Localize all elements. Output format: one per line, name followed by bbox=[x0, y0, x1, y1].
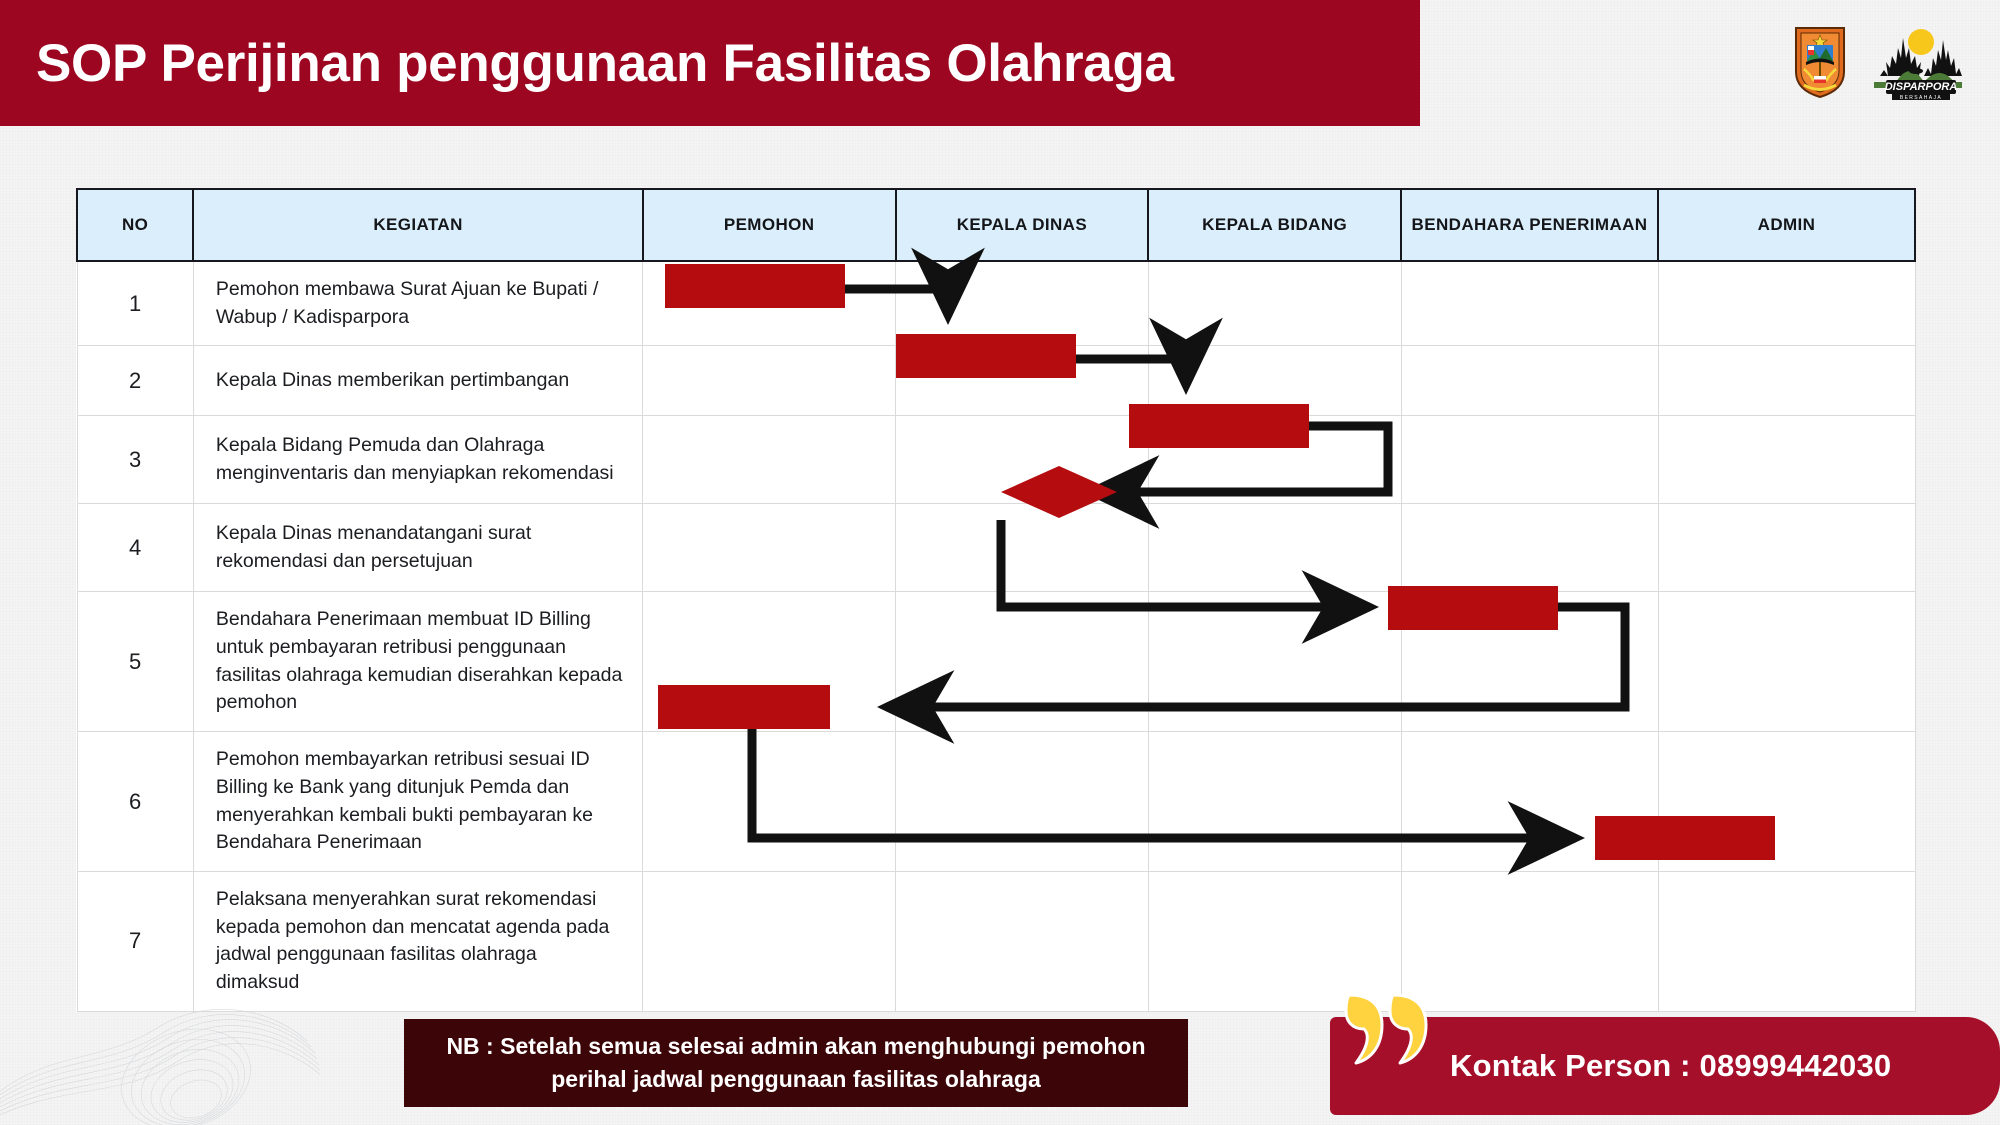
lane-cell-kepala-dinas bbox=[896, 732, 1149, 872]
table-row: 4 Kepala Dinas menandatangani surat reko… bbox=[77, 504, 1915, 592]
table-row: 3 Kepala Bidang Pemuda dan Olahraga meng… bbox=[77, 416, 1915, 504]
lane-cell-kepala-dinas bbox=[896, 346, 1149, 416]
row-activity: Pemohon membawa Surat Ajuan ke Bupati / … bbox=[193, 261, 642, 346]
row-activity: Bendahara Penerimaan membuat ID Billing … bbox=[193, 592, 642, 732]
table-row: 5 Bendahara Penerimaan membuat ID Billin… bbox=[77, 592, 1915, 732]
note-banner: NB : Setelah semua selesai admin akan me… bbox=[404, 1019, 1188, 1107]
row-activity: Pelaksana menyerahkan surat rekomendasi … bbox=[193, 871, 642, 1011]
table-row: 2 Kepala Dinas memberikan pertimbangan bbox=[77, 346, 1915, 416]
svg-text:DISPARPORA: DISPARPORA bbox=[1885, 81, 1958, 93]
table-row: 1 Pemohon membawa Surat Ajuan ke Bupati … bbox=[77, 261, 1915, 346]
lane-cell-kepala-dinas bbox=[896, 261, 1149, 346]
row-activity: Kepala Dinas menandatangani surat rekome… bbox=[193, 504, 642, 592]
lane-cell-admin bbox=[1658, 592, 1915, 732]
lane-cell-bendahara bbox=[1401, 732, 1658, 872]
lane-cell-kepala-bidang bbox=[1148, 592, 1401, 732]
lane-cell-pemohon bbox=[643, 871, 896, 1011]
svg-text:BERSAHAJA: BERSAHAJA bbox=[1900, 95, 1942, 100]
row-number: 6 bbox=[77, 732, 193, 872]
lane-cell-kepala-bidang bbox=[1148, 504, 1401, 592]
title-banner: SOP Perijinan penggunaan Fasilitas Olahr… bbox=[0, 0, 1420, 126]
column-header-kegiatan: KEGIATAN bbox=[193, 189, 642, 261]
logo-group: DISPARPORA BERSAHAJA bbox=[1792, 24, 1962, 100]
column-header-kepala-dinas: KEPALA DINAS bbox=[896, 189, 1149, 261]
lane-cell-admin bbox=[1658, 261, 1915, 346]
lane-cell-admin bbox=[1658, 504, 1915, 592]
lane-cell-admin bbox=[1658, 732, 1915, 872]
wave-decoration bbox=[0, 995, 320, 1125]
lane-cell-admin bbox=[1658, 871, 1915, 1011]
lane-cell-kepala-dinas bbox=[896, 504, 1149, 592]
lane-cell-admin bbox=[1658, 416, 1915, 504]
contact-banner[interactable]: Kontak Person : 08999442030 bbox=[1330, 1017, 2000, 1115]
lane-cell-bendahara bbox=[1401, 871, 1658, 1011]
column-header-no: NO bbox=[77, 189, 193, 261]
lane-cell-pemohon bbox=[643, 346, 896, 416]
lane-cell-admin bbox=[1658, 346, 1915, 416]
column-header-kepala-bidang: KEPALA BIDANG bbox=[1148, 189, 1401, 261]
row-number: 2 bbox=[77, 346, 193, 416]
lane-cell-pemohon bbox=[643, 592, 896, 732]
table-header-row: NO KEGIATAN PEMOHON KEPALA DINAS KEPALA … bbox=[77, 189, 1915, 261]
lane-cell-bendahara bbox=[1401, 261, 1658, 346]
lane-cell-kepala-bidang bbox=[1148, 416, 1401, 504]
column-header-admin: ADMIN bbox=[1658, 189, 1915, 261]
row-number: 3 bbox=[77, 416, 193, 504]
lane-cell-kepala-dinas bbox=[896, 592, 1149, 732]
table-row: 6 Pemohon membayarkan retribusi sesuai I… bbox=[77, 732, 1915, 872]
kabupaten-emblem-icon bbox=[1792, 24, 1848, 100]
lane-cell-kepala-bidang bbox=[1148, 346, 1401, 416]
row-activity: Kepala Dinas memberikan pertimbangan bbox=[193, 346, 642, 416]
contact-label: Kontak Person : 08999442030 bbox=[1450, 1048, 1891, 1084]
row-number: 5 bbox=[77, 592, 193, 732]
row-number: 1 bbox=[77, 261, 193, 346]
row-number: 7 bbox=[77, 871, 193, 1011]
lane-cell-bendahara bbox=[1401, 416, 1658, 504]
lane-cell-kepala-dinas bbox=[896, 871, 1149, 1011]
lane-cell-kepala-bidang bbox=[1148, 261, 1401, 346]
lane-cell-kepala-bidang bbox=[1148, 732, 1401, 872]
row-number: 4 bbox=[77, 504, 193, 592]
column-header-bendahara-penerimaan: BENDAHARA PENERIMAAN bbox=[1401, 189, 1658, 261]
sop-table: NO KEGIATAN PEMOHON KEPALA DINAS KEPALA … bbox=[76, 188, 1916, 1012]
lane-cell-bendahara bbox=[1401, 346, 1658, 416]
lane-cell-pemohon bbox=[643, 416, 896, 504]
quote-icon bbox=[1342, 989, 1438, 1067]
lane-cell-bendahara bbox=[1401, 504, 1658, 592]
disparpora-logo-icon: DISPARPORA BERSAHAJA bbox=[1866, 24, 1962, 100]
lane-cell-pemohon bbox=[643, 504, 896, 592]
column-header-pemohon: PEMOHON bbox=[643, 189, 896, 261]
row-activity: Pemohon membayarkan retribusi sesuai ID … bbox=[193, 732, 642, 872]
table-row: 7 Pelaksana menyerahkan surat rekomendas… bbox=[77, 871, 1915, 1011]
row-activity: Kepala Bidang Pemuda dan Olahraga mengin… bbox=[193, 416, 642, 504]
note-text: NB : Setelah semua selesai admin akan me… bbox=[404, 1030, 1188, 1095]
lane-cell-pemohon bbox=[643, 261, 896, 346]
lane-cell-kepala-dinas bbox=[896, 416, 1149, 504]
page-title: SOP Perijinan penggunaan Fasilitas Olahr… bbox=[36, 33, 1174, 94]
lane-cell-pemohon bbox=[643, 732, 896, 872]
lane-cell-bendahara bbox=[1401, 592, 1658, 732]
